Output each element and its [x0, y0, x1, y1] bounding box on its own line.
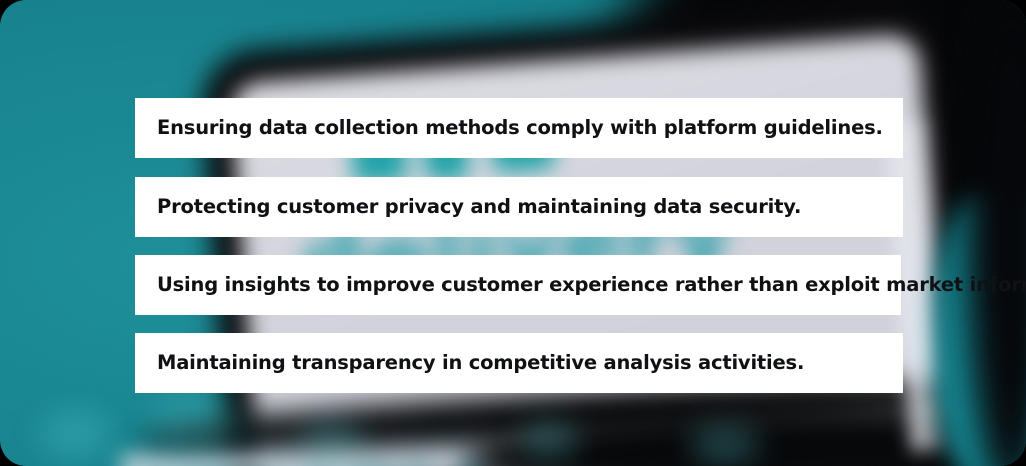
band-label: Protecting customer privacy and maintain…: [157, 197, 801, 217]
text-band-list: Ensuring data collection methods comply …: [0, 0, 1026, 466]
text-band: Maintaining transparency in competitive …: [135, 333, 903, 393]
slide-canvas: delivery delivery Ensuring data collecti…: [0, 0, 1026, 466]
band-label: Maintaining transparency in competitive …: [157, 353, 804, 373]
band-label: Ensuring data collection methods comply …: [157, 118, 883, 138]
text-band: Ensuring data collection methods comply …: [135, 98, 903, 158]
text-band: Using insights to improve customer exper…: [135, 255, 901, 315]
text-band: Protecting customer privacy and maintain…: [135, 177, 903, 237]
band-label: Using insights to improve customer exper…: [157, 275, 1026, 295]
